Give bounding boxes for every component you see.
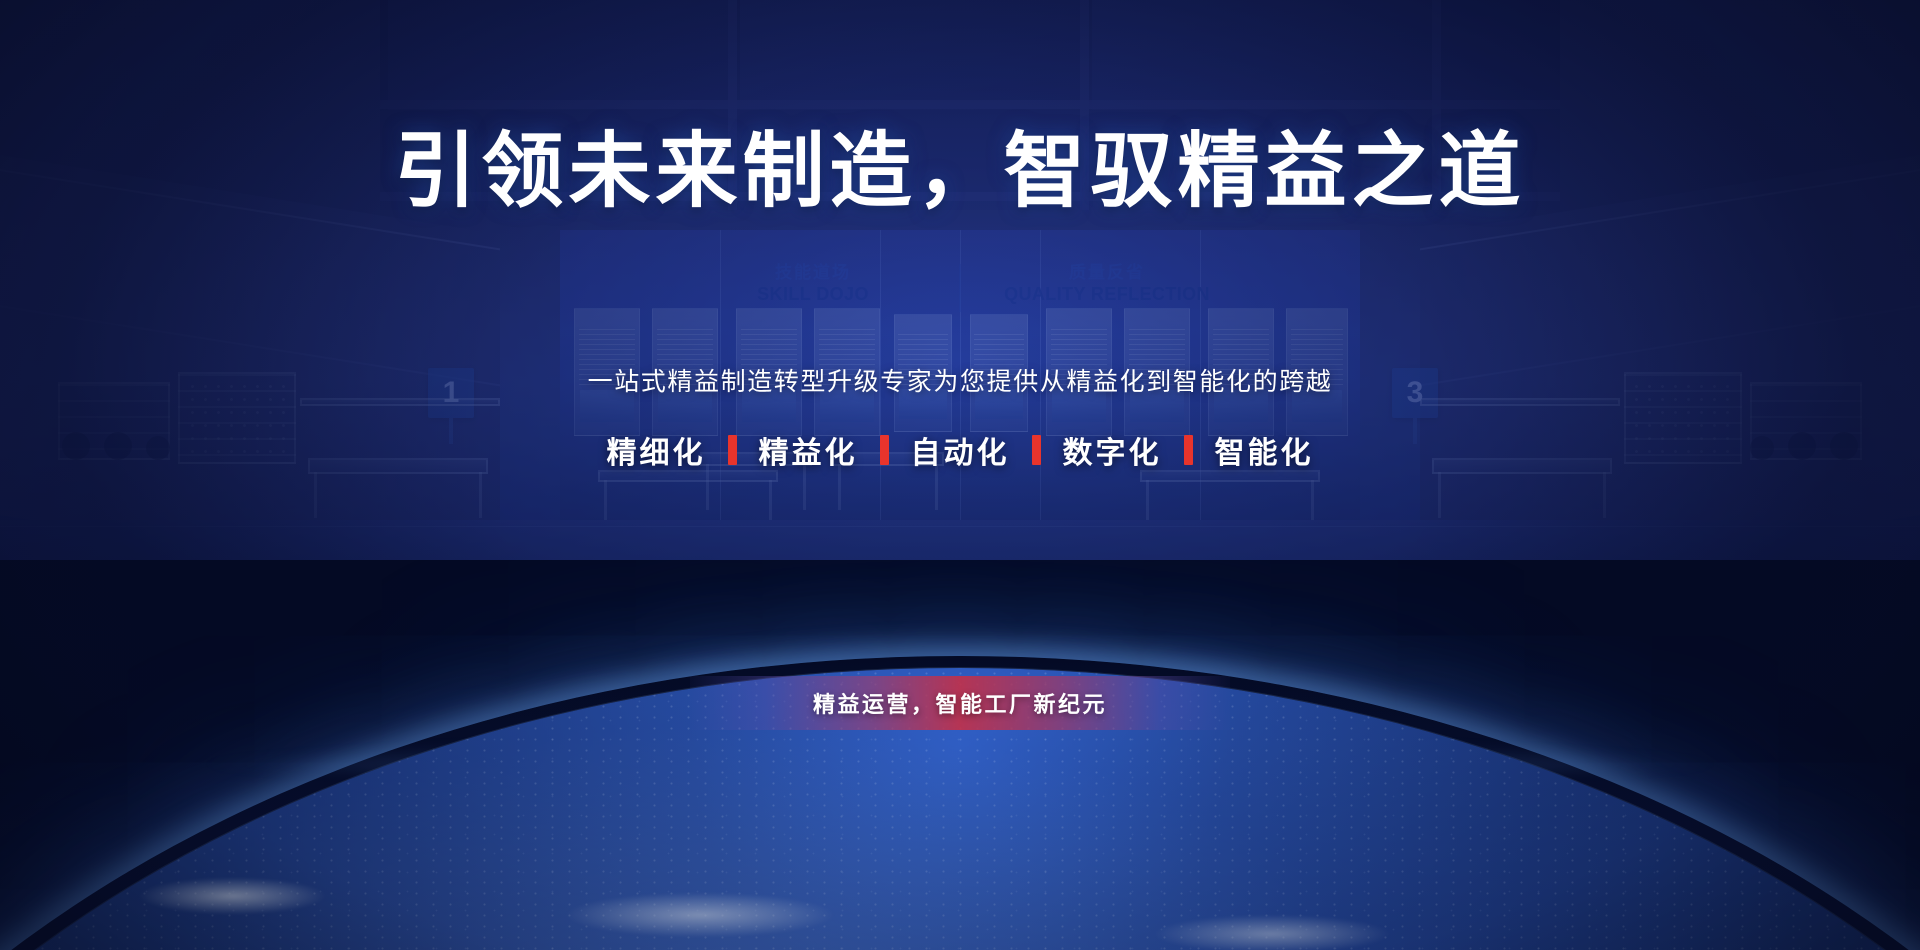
page-title: 引领未来制造，智驭精益之道 xyxy=(0,128,1920,217)
hero-subtitle: 一站式精益制造转型升级专家为您提供从精益化到智能化的跨越 xyxy=(0,362,1920,398)
keyword-item: 自动化 xyxy=(889,428,1032,472)
keyword-list: 精细化 精益化 自动化 数字化 智能化 xyxy=(0,428,1920,472)
hero-content: 引领未来制造，智驭精益之道 一站式精益制造转型升级专家为您提供从精益化到智能化的… xyxy=(0,0,1920,950)
keyword-separator-icon xyxy=(728,435,737,465)
tagline-text: 精益运营，智能工厂新纪元 xyxy=(813,687,1107,719)
keyword-item: 精益化 xyxy=(737,428,880,472)
keyword-separator-icon xyxy=(880,435,889,465)
keyword-item: 智能化 xyxy=(1193,428,1336,472)
keyword-separator-icon xyxy=(1184,435,1193,465)
keyword-item: 数字化 xyxy=(1041,428,1184,472)
tagline-ribbon: 精益运营，智能工厂新纪元 xyxy=(690,676,1230,730)
keyword-item: 精细化 xyxy=(585,428,728,472)
hero-banner: 技能道场 SKILL DOJO 质量反省 QUALITY REFLECTION … xyxy=(0,0,1920,950)
keyword-separator-icon xyxy=(1032,435,1041,465)
